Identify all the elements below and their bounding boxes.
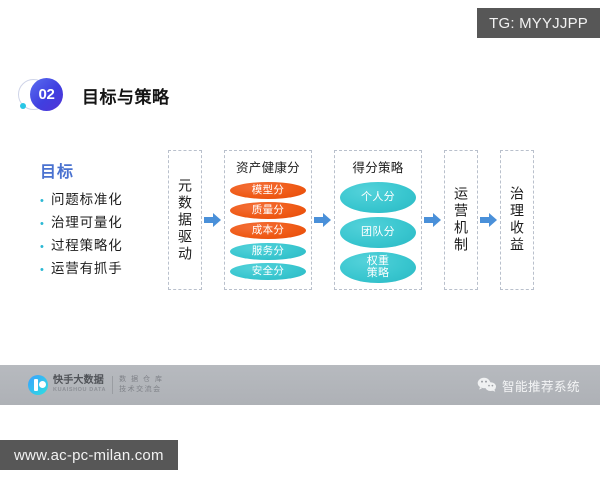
goals-block: 目标 •问题标准化•治理可量化•过程策略化•运营有抓手	[40, 158, 123, 282]
flow-pill: 服务分	[230, 243, 306, 260]
flow-pill: 团队分	[340, 217, 416, 248]
goal-item: •过程策略化	[40, 236, 123, 257]
flow-pill-label: 成本分	[252, 225, 284, 236]
flow-pill-label: 服务分	[252, 246, 284, 257]
url-watermark-text: www.ac-pc-milan.com	[14, 447, 164, 464]
flow-step-label: 治理收益	[510, 186, 524, 254]
badge-number: 02	[30, 78, 63, 111]
wechat-account-tag: 智能推荐系统	[477, 376, 580, 395]
flow-pill-label: 质量分	[252, 205, 284, 216]
flow-pill: 个人分	[340, 182, 416, 213]
brand-name-cn: 快手大数据	[53, 376, 106, 387]
flow-arrow	[202, 150, 224, 290]
section-header: 02 目标与策略	[18, 76, 170, 114]
goal-item: •问题标准化	[40, 190, 123, 211]
flow-pill-label: 权重 策略	[367, 256, 390, 279]
flow-step-label: 运营机制	[454, 186, 468, 254]
flow-step-meta-data-driven: 元数据驱动	[168, 150, 202, 290]
flow-group-title: 得分策略	[352, 157, 403, 176]
flow-arrow	[312, 150, 334, 290]
brand-divider	[112, 376, 113, 394]
goal-item-label: 问题标准化	[51, 190, 123, 211]
flow-step-governance-benefit: 治理收益	[500, 150, 534, 290]
brand-subtitle-line2: 技术交流会	[119, 385, 163, 396]
goals-heading: 目标	[40, 158, 123, 182]
page-title: 目标与策略	[82, 83, 170, 108]
section-number-badge: 02	[18, 76, 74, 114]
flow-pill-label: 模型分	[252, 185, 284, 196]
goal-item: •运营有抓手	[40, 259, 123, 280]
wechat-icon	[477, 377, 497, 393]
goal-item-label: 运营有抓手	[51, 259, 123, 280]
flow-step-score-strategy: 得分策略个人分团队分权重 策略	[334, 150, 422, 290]
process-flow-diagram: 元数据驱动资产健康分模型分质量分成本分服务分安全分得分策略个人分团队分权重 策略…	[168, 150, 534, 290]
flow-pill-label: 个人分	[361, 192, 395, 204]
footer-bar: 快手大数据 KUAISHOU DATA 数 据 仓 库 技术交流会 智能推荐系统	[0, 365, 600, 405]
flow-step-label: 元数据驱动	[178, 178, 192, 263]
flow-step-asset-health-score: 资产健康分模型分质量分成本分服务分安全分	[224, 150, 312, 290]
flow-arrow	[478, 150, 500, 290]
flow-pill-stack: 模型分质量分成本分服务分安全分	[230, 180, 306, 282]
url-watermark: www.ac-pc-milan.com	[0, 440, 178, 470]
flow-arrow	[422, 150, 444, 290]
flow-group-title: 资产健康分	[236, 157, 300, 176]
arrow-right-icon	[480, 211, 498, 229]
goal-item: •治理可量化	[40, 213, 123, 234]
arrow-right-icon	[424, 211, 442, 229]
brand-name-en: KUAISHOU DATA	[53, 387, 106, 394]
flow-pill-label: 安全分	[252, 266, 284, 277]
goal-bullet-icon: •	[40, 242, 51, 253]
arrow-right-icon	[314, 211, 332, 229]
wechat-account-name: 智能推荐系统	[502, 376, 580, 395]
flow-pill-stack: 个人分团队分权重 策略	[340, 180, 416, 285]
goal-item-label: 过程策略化	[51, 236, 123, 257]
goal-item-label: 治理可量化	[51, 213, 123, 234]
tg-watermark-text: TG: MYYJJPP	[489, 15, 588, 32]
flow-pill: 模型分	[230, 182, 306, 199]
goal-bullet-icon: •	[40, 219, 51, 230]
goals-list: •问题标准化•治理可量化•过程策略化•运营有抓手	[40, 190, 123, 280]
arrow-right-icon	[204, 211, 222, 229]
flow-pill: 权重 策略	[340, 252, 416, 283]
flow-step-operating-mechanism: 运营机制	[444, 150, 478, 290]
brand-subtitle-line1: 数 据 仓 库	[119, 375, 163, 386]
kuaishou-brand-logo: 快手大数据 KUAISHOU DATA 数 据 仓 库 技术交流会	[28, 375, 163, 396]
flow-pill: 质量分	[230, 202, 306, 219]
brand-subtitle: 数 据 仓 库 技术交流会	[119, 375, 163, 396]
badge-dot-decoration	[20, 103, 26, 109]
flow-pill: 成本分	[230, 222, 306, 239]
goal-bullet-icon: •	[40, 196, 51, 207]
tg-watermark: TG: MYYJJPP	[477, 8, 600, 38]
flow-pill-label: 团队分	[361, 227, 395, 239]
kuaishou-logo-icon	[28, 375, 48, 395]
goal-bullet-icon: •	[40, 265, 51, 276]
brand-text: 快手大数据 KUAISHOU DATA	[53, 376, 106, 393]
flow-pill: 安全分	[230, 263, 306, 280]
